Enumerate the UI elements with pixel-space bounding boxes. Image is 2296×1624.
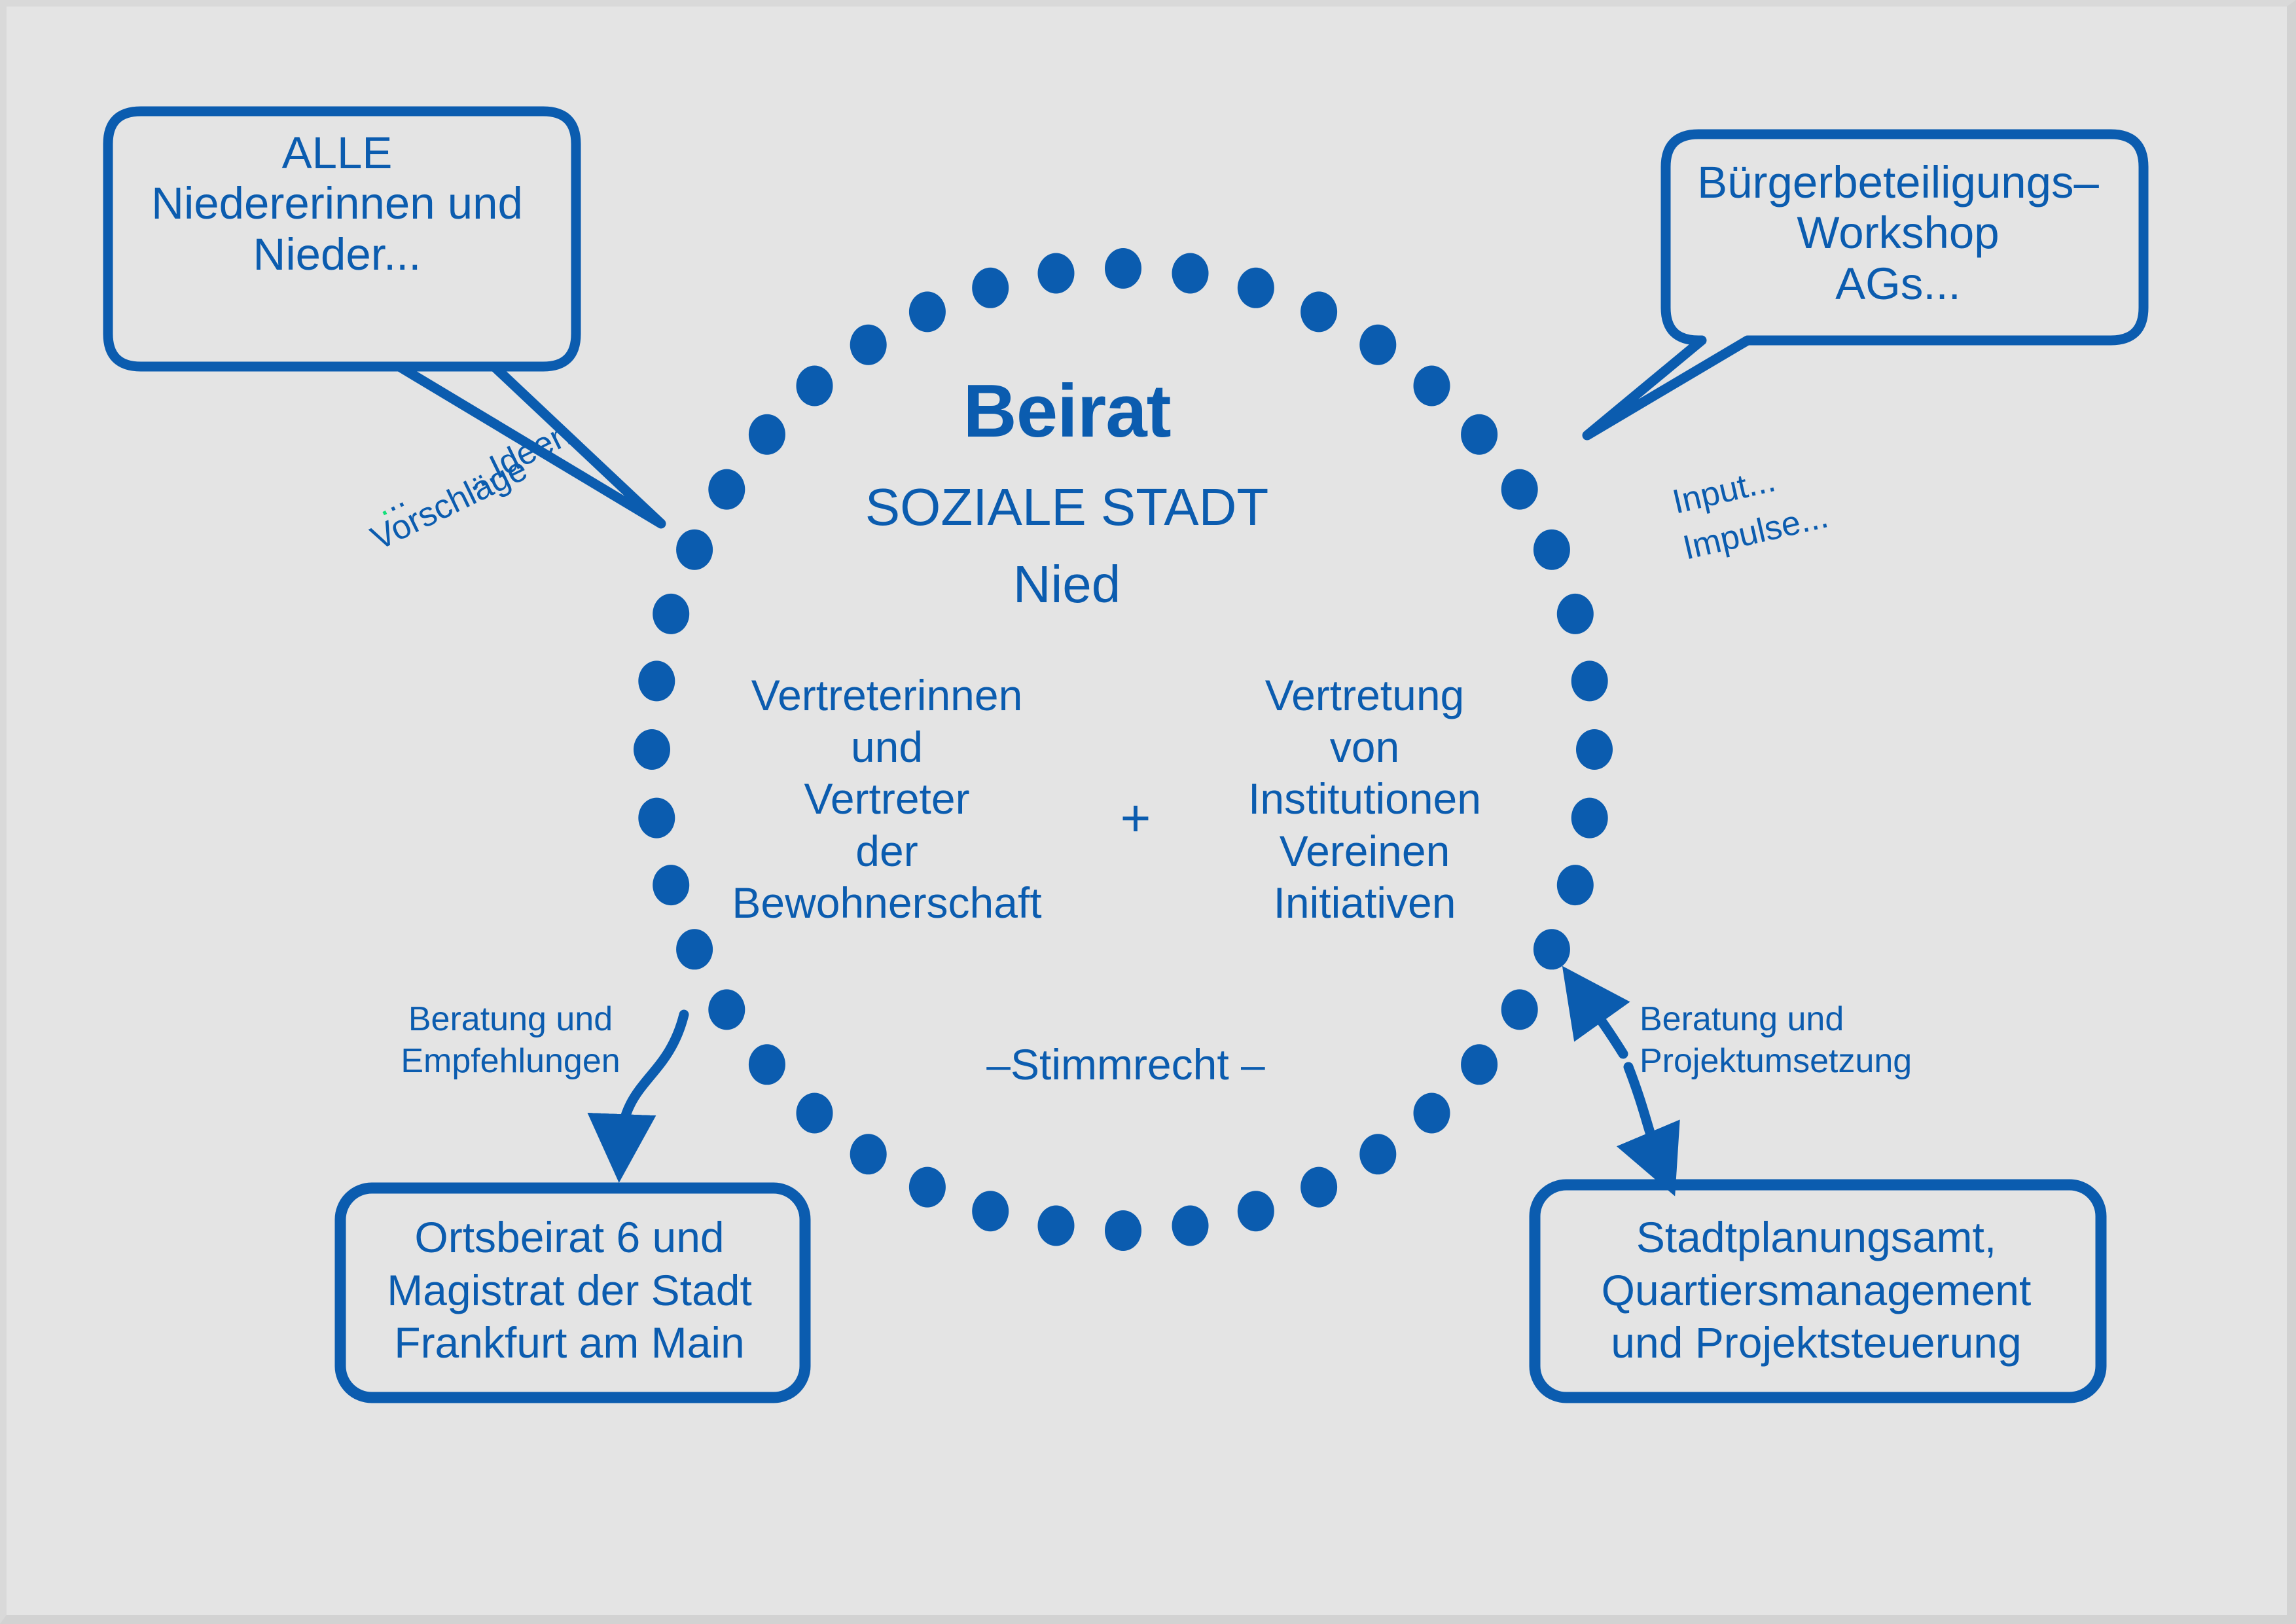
circle-dot bbox=[1461, 414, 1498, 455]
circle-dot bbox=[1501, 469, 1538, 510]
circle-dot bbox=[749, 414, 785, 455]
circle-dot bbox=[1300, 1167, 1337, 1208]
circle-dot bbox=[1576, 729, 1613, 770]
arrow-from-stadtplanungsamt bbox=[1584, 996, 1623, 1054]
circle-dot bbox=[972, 1191, 1009, 1231]
circle-footer-stimmrecht: –Stimmrecht – bbox=[923, 1041, 1329, 1089]
box-ortsbeirat-label: Ortsbeirat 6 und Magistrat der Stadt Fra… bbox=[350, 1211, 789, 1369]
circle-dot bbox=[1557, 865, 1594, 905]
circle-dot bbox=[749, 1044, 785, 1085]
circle-dot bbox=[1557, 594, 1594, 634]
circle-dot bbox=[653, 594, 689, 634]
circle-subtitle-line2: Nied bbox=[772, 555, 1361, 614]
box-stadtplanungsamt-label: Stadtplanungsamt, Quartiersmanagement un… bbox=[1551, 1211, 2081, 1369]
circle-dot bbox=[1359, 325, 1396, 365]
circle-dot bbox=[1534, 929, 1570, 969]
circle-dot bbox=[1534, 530, 1570, 570]
circle-dot bbox=[850, 1134, 887, 1174]
circle-dot bbox=[909, 291, 946, 332]
circle-dot bbox=[708, 469, 745, 510]
circle-dot bbox=[1300, 291, 1337, 332]
circle-dot bbox=[708, 989, 745, 1030]
circle-dot bbox=[1571, 798, 1608, 839]
circle-dot bbox=[676, 929, 713, 969]
arrow-label-beratung-projektumsetzung: Beratung und Projektumsetzung bbox=[1640, 998, 1954, 1083]
diagram-canvas: ALLE Niedererinnen und Nieder... Bürgerb… bbox=[0, 0, 2296, 1624]
circle-column-right: Vertretung von Institutionen Vereinen In… bbox=[1181, 670, 1548, 929]
plus-operator: + bbox=[1086, 789, 1185, 848]
circle-dot bbox=[634, 729, 670, 770]
circle-dot bbox=[1414, 1093, 1450, 1134]
circle-dot bbox=[1461, 1044, 1498, 1085]
circle-dot bbox=[638, 660, 675, 701]
circle-dot bbox=[1571, 660, 1608, 701]
circle-dot bbox=[1172, 1206, 1209, 1246]
circle-dot bbox=[638, 798, 675, 839]
circle-dot bbox=[1038, 253, 1075, 294]
circle-dot bbox=[1105, 248, 1141, 289]
arrow-label-beratung-empfehlungen: Beratung und Empfehlungen bbox=[373, 998, 648, 1083]
page-title: Beirat bbox=[838, 370, 1296, 454]
circle-dot bbox=[1414, 366, 1450, 406]
circle-dot bbox=[1238, 1191, 1274, 1231]
circle-dot bbox=[1359, 1134, 1396, 1174]
circle-subtitle-line1: SOZIALE STADT bbox=[772, 478, 1361, 537]
speech-bubble-right-label: Bürgerbeteiligungs– Workshop AGs... bbox=[1672, 157, 2124, 309]
circle-dot bbox=[1038, 1206, 1075, 1246]
circle-dot bbox=[1501, 989, 1538, 1030]
speech-bubble-left-label: ALLE Niedererinnen und Nieder... bbox=[105, 128, 569, 280]
circle-dot bbox=[1105, 1210, 1141, 1251]
circle-column-left: Vertreterinnen und Vertreter der Bewohne… bbox=[684, 670, 1090, 929]
circle-dot bbox=[1238, 268, 1274, 308]
circle-dot bbox=[909, 1167, 946, 1208]
circle-dot bbox=[850, 325, 887, 365]
circle-dot bbox=[972, 268, 1009, 308]
circle-dot bbox=[1172, 253, 1209, 294]
circle-dot bbox=[676, 530, 713, 570]
circle-dot bbox=[797, 366, 833, 406]
circle-dot bbox=[797, 1093, 833, 1134]
